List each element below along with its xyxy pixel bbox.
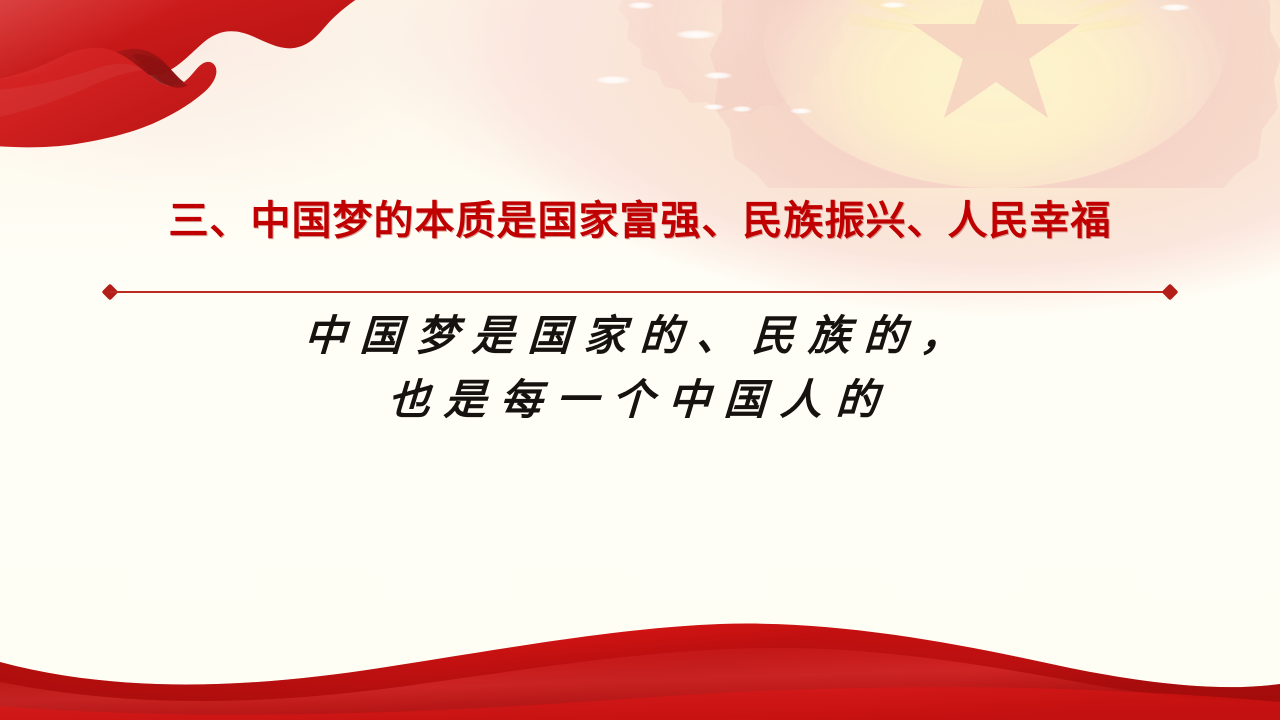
divider-diamond-right-icon (1162, 284, 1179, 301)
red-divider-line (104, 286, 1176, 298)
body-line-1: 中国梦是国家的、民族的， (0, 306, 1280, 370)
background-wash-left (0, 0, 640, 320)
slide-canvas: 三、中国梦的本质是国家富强、民族振兴、人民幸福 中国梦是国家的、民族的， 也是每… (0, 0, 1280, 720)
page-title: 三、中国梦的本质是国家富强、民族振兴、人民幸福 (0, 196, 1280, 246)
body-line-2: 也是每一个中国人的 (0, 370, 1280, 434)
divider-rule (110, 291, 1170, 293)
body-text-block: 中国梦是国家的、民族的， 也是每一个中国人的 (0, 306, 1280, 434)
